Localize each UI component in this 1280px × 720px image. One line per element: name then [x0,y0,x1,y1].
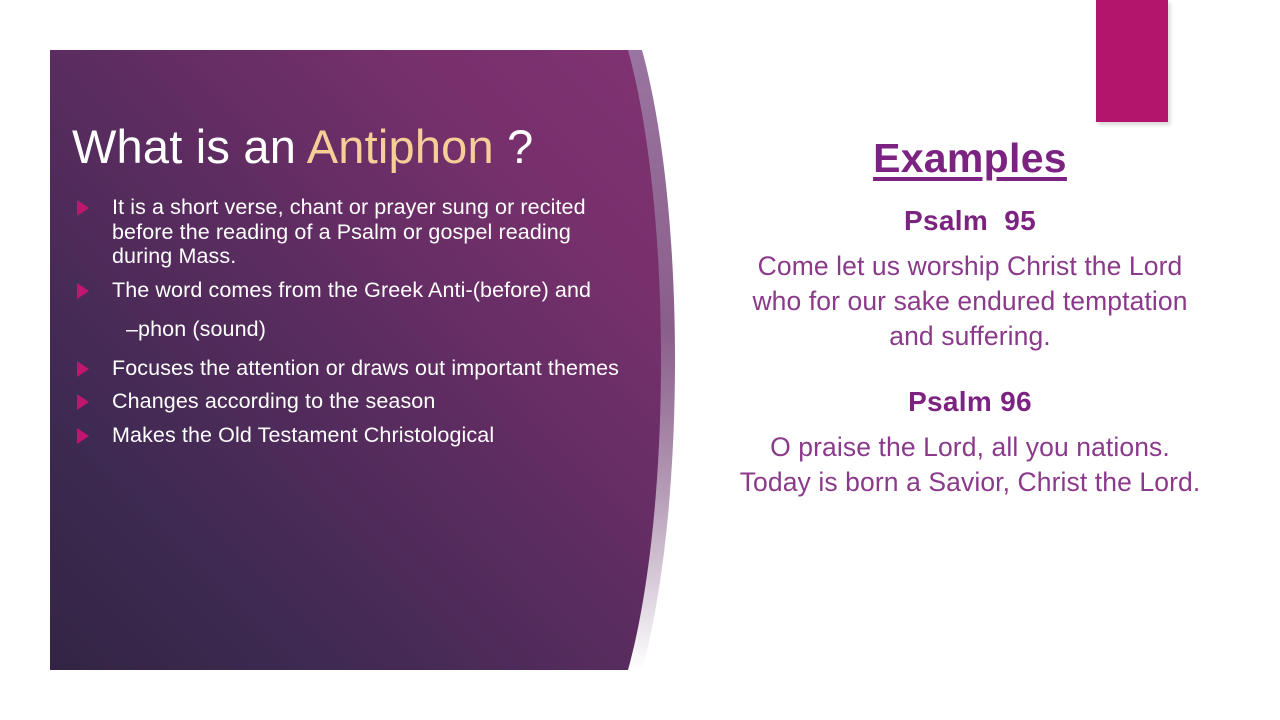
psalm-95-verse: Come let us worship Christ the Lord who … [680,249,1260,354]
list-item: Focuses the attention or draws out impor… [70,356,630,381]
examples-heading: Examples [680,136,1260,181]
triangle-right-icon [77,283,89,299]
triangle-right-icon [77,200,89,216]
title-text-after: ? [494,120,534,173]
triangle-right-icon [77,428,89,444]
list-item-label: –phon (sound) [126,317,266,341]
psalm-96-verse: O praise the Lord, all you nations. Toda… [680,430,1260,500]
list-item-label: Focuses the attention or draws out impor… [112,356,619,380]
list-item: Changes according to the season [70,389,630,414]
slide-canvas: What is an Antiphon ? It is a short vers… [0,0,1280,720]
panel-text-content: What is an Antiphon ? It is a short vers… [50,50,650,670]
examples-column: Examples Psalm 95 Come let us worship Ch… [680,50,1260,500]
list-item: Makes the Old Testament Christological [70,423,630,448]
title-text-before: What is an [72,120,307,173]
list-item-label: The word comes from the Greek Anti-(befo… [112,278,591,302]
list-item-sub: –phon (sound) [70,317,630,342]
list-item: The word comes from the Greek Anti-(befo… [70,278,630,303]
bullet-list: It is a short verse, chant or prayer sun… [70,195,630,457]
triangle-right-icon [77,394,89,410]
slide-title: What is an Antiphon ? [72,122,533,171]
triangle-right-icon [77,361,89,377]
list-item-label: Changes according to the season [112,389,435,413]
list-item: It is a short verse, chant or prayer sun… [70,195,630,269]
title-highlight-antiphon: Antiphon [307,120,494,173]
list-item-label: Makes the Old Testament Christological [112,423,494,447]
list-item-label: It is a short verse, chant or prayer sun… [112,195,586,268]
psalm-96-label: Psalm 96 [680,386,1260,418]
psalm-95-label: Psalm 95 [680,205,1260,237]
